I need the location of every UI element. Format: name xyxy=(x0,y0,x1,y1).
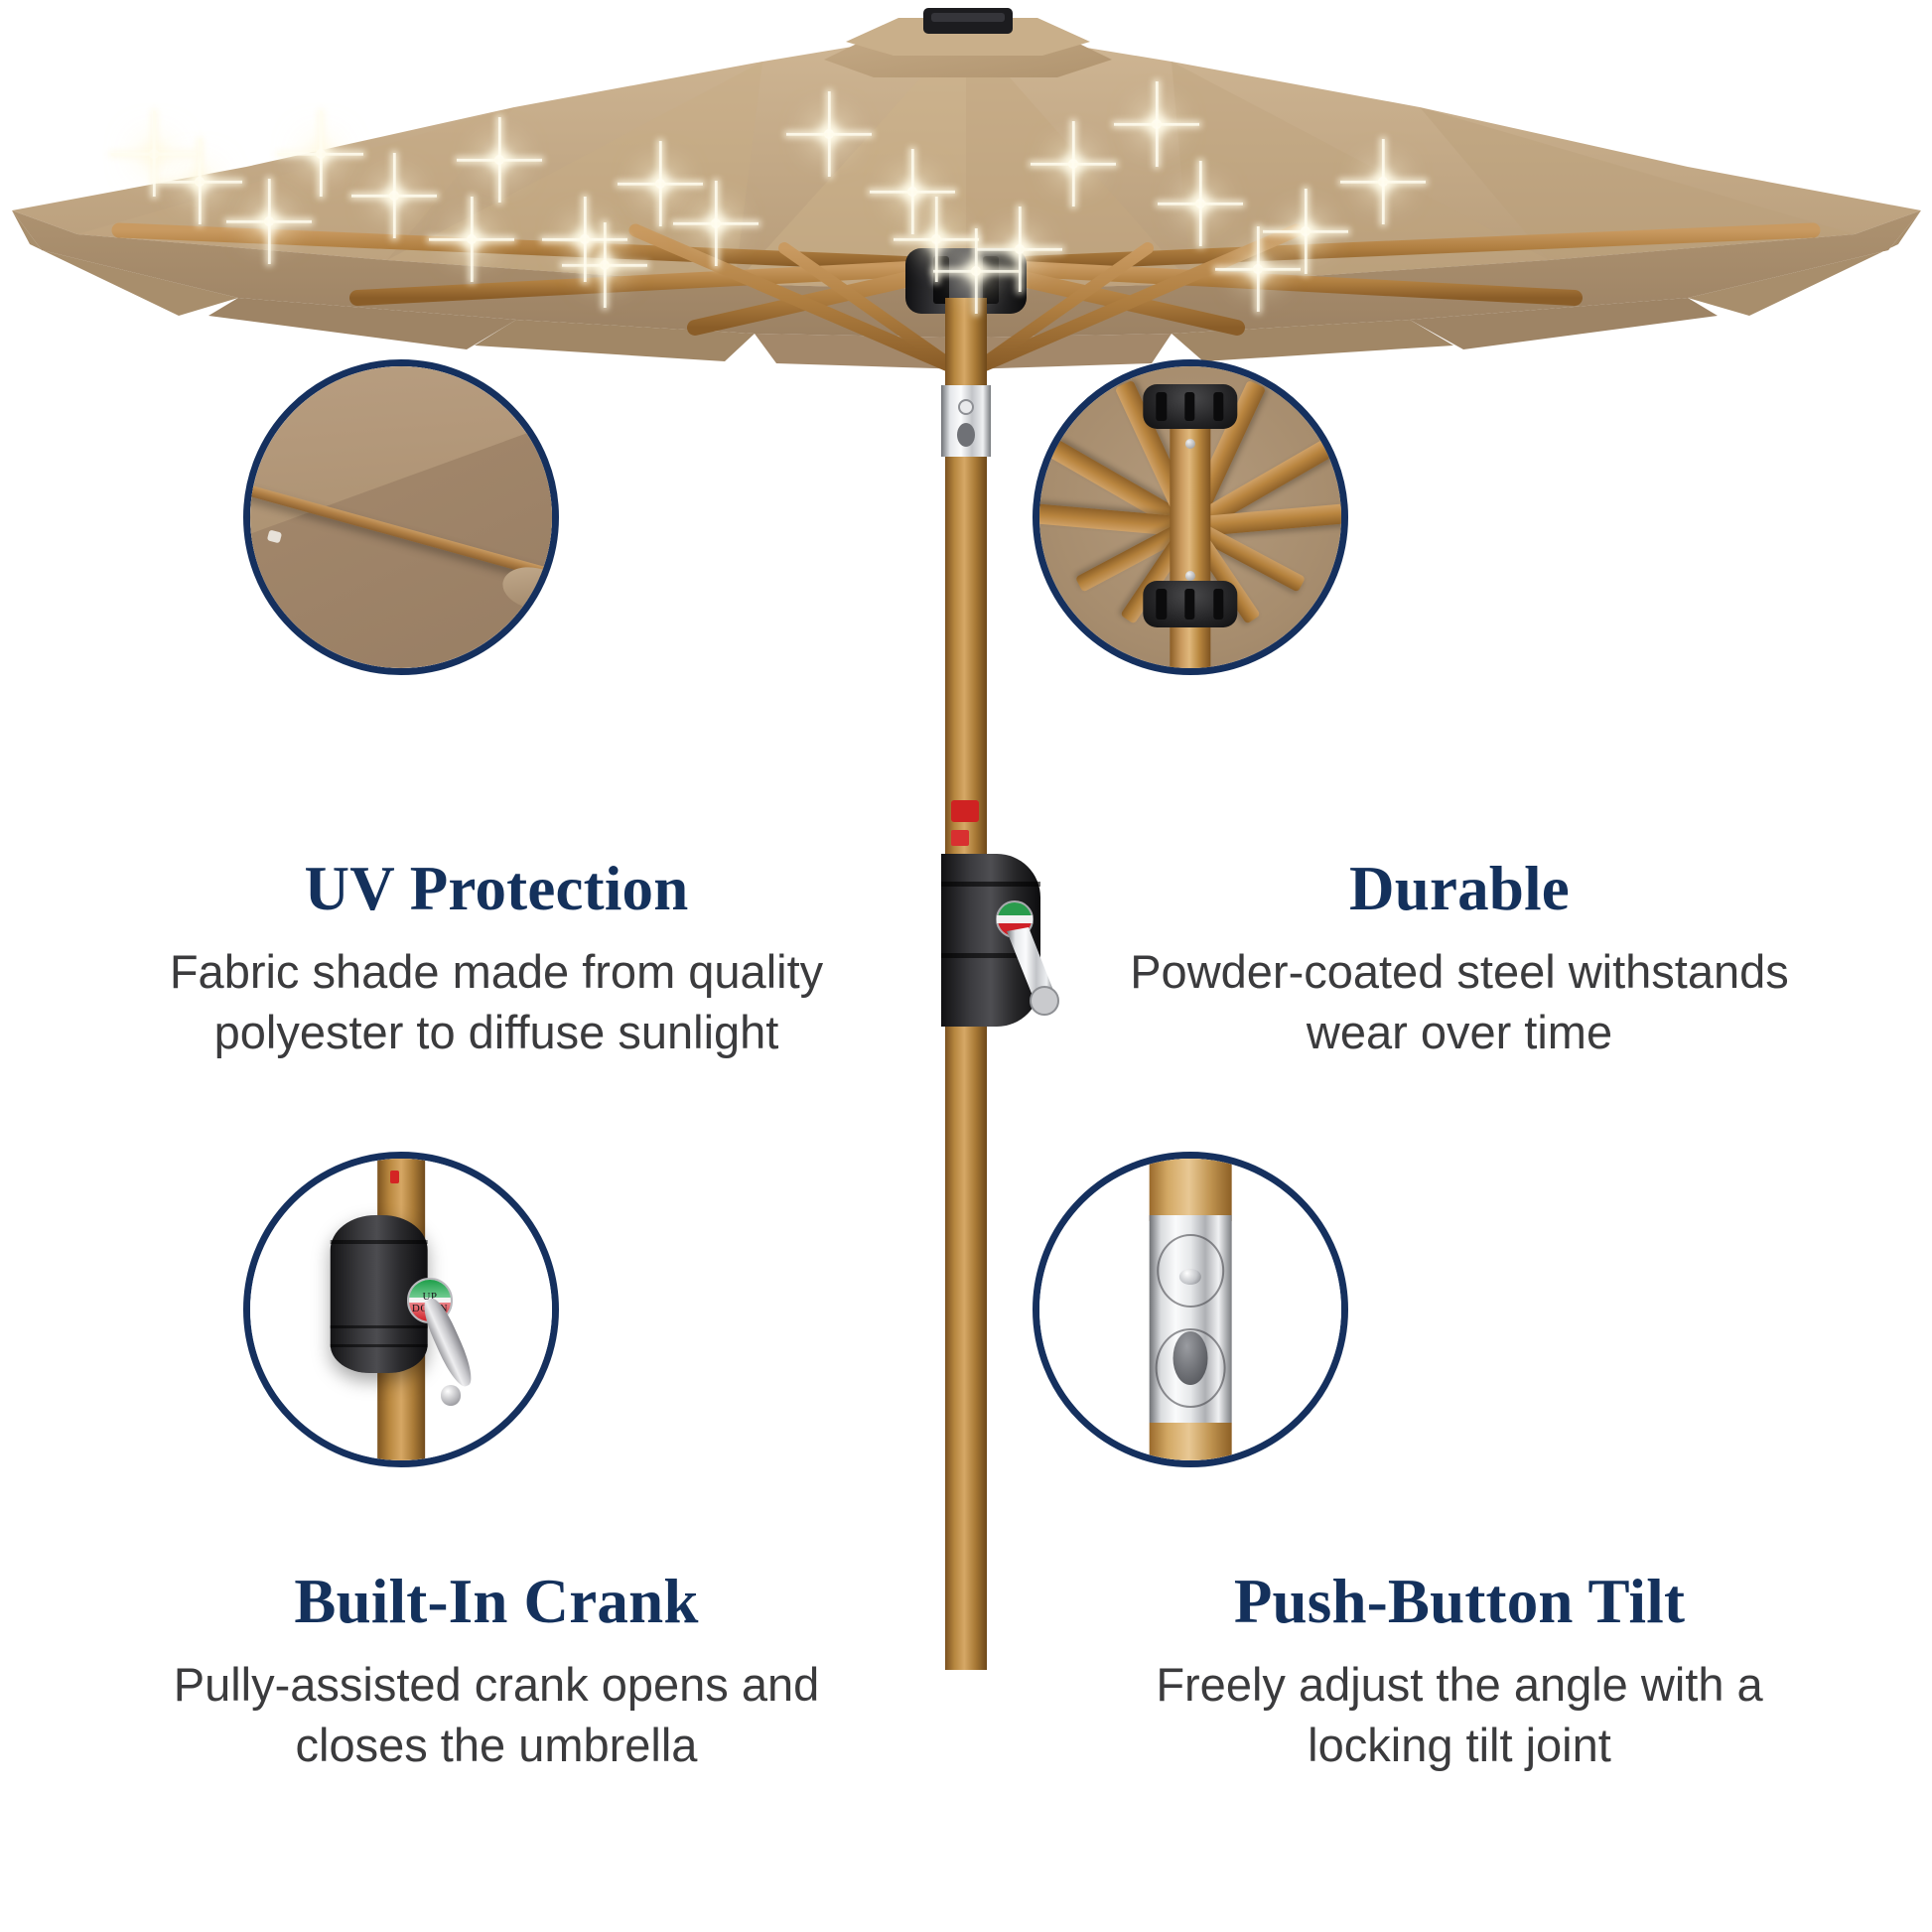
feature-description-push-button-tilt: Freely adjust the angle with a locking t… xyxy=(1003,1654,1916,1775)
desc-line: closes the umbrella xyxy=(296,1719,698,1771)
led-light xyxy=(655,179,665,189)
led-light xyxy=(1253,264,1263,274)
desc-line: locking tilt joint xyxy=(1308,1719,1611,1771)
feature-title-uv-protection: UV Protection xyxy=(40,856,953,921)
feature-title-durable: Durable xyxy=(1003,856,1916,921)
feature-description-uv-protection: Fabric shade made from quality polyester… xyxy=(40,941,953,1062)
desc-line: Freely adjust the angle with a xyxy=(1156,1658,1762,1711)
solar-panel xyxy=(923,8,1013,34)
led-light xyxy=(149,149,159,159)
led-light xyxy=(264,216,274,226)
led-light xyxy=(931,234,941,244)
led-light xyxy=(580,234,590,244)
feature-title-push-button-tilt: Push-Button Tilt xyxy=(1003,1569,1916,1634)
led-light xyxy=(494,155,504,165)
canopy-underside xyxy=(12,210,1921,338)
canopy-ribs xyxy=(119,230,1813,367)
canopy-top xyxy=(12,28,1921,290)
feature-description-built-in-crank: Pully-assisted crank opens and closes th… xyxy=(40,1654,953,1775)
callout-push-button-tilt xyxy=(1033,1152,1348,1467)
led-light xyxy=(1015,244,1025,254)
tilt-lever xyxy=(1173,1331,1208,1385)
led-light xyxy=(389,191,399,201)
led-light xyxy=(316,149,326,159)
led-light xyxy=(971,266,981,276)
callout-built-in-crank: UP DOWN xyxy=(243,1152,559,1467)
crank-handle-icon: UP DOWN xyxy=(243,1152,559,1467)
led-light xyxy=(467,234,477,244)
feature-durable: Durable Powder-coated steel withstands w… xyxy=(1003,856,1916,1062)
led-light xyxy=(1152,119,1162,129)
desc-line: Powder-coated steel withstands xyxy=(1130,945,1789,998)
led-light xyxy=(1301,226,1311,236)
feature-description-durable: Powder-coated steel withstands wear over… xyxy=(1003,941,1916,1062)
feature-title-built-in-crank: Built-In Crank xyxy=(40,1569,953,1634)
callout-durable xyxy=(1033,359,1348,675)
led-light xyxy=(1195,199,1205,208)
feature-push-button-tilt: Push-Button Tilt Freely adjust the angle… xyxy=(1003,1569,1916,1775)
led-light xyxy=(824,129,834,139)
fabric-canopy-closeup-icon xyxy=(243,359,559,675)
desc-line: wear over time xyxy=(1307,1006,1612,1058)
tilt-collar xyxy=(941,385,991,457)
led-light xyxy=(1378,177,1388,187)
rib-hub-underside-icon xyxy=(1033,359,1348,675)
desc-line: Pully-assisted crank opens and xyxy=(174,1658,820,1711)
feature-uv-protection: UV Protection Fabric shade made from qua… xyxy=(40,856,953,1062)
infographic-canvas: UP DOWN UV Protection Fabric xyxy=(0,0,1932,1932)
led-light xyxy=(907,187,917,197)
led-light xyxy=(195,177,205,187)
led-light xyxy=(711,218,721,228)
tilt-push-button xyxy=(1179,1269,1201,1285)
feature-built-in-crank: Built-In Crank Pully-assisted crank open… xyxy=(40,1569,953,1775)
led-light xyxy=(600,260,610,270)
callout-uv-protection xyxy=(243,359,559,675)
desc-line: polyester to diffuse sunlight xyxy=(214,1006,779,1058)
tilt-collar-icon xyxy=(1033,1152,1348,1467)
led-light xyxy=(1068,159,1078,169)
warning-sticker xyxy=(951,800,979,822)
desc-line: Fabric shade made from quality xyxy=(170,945,823,998)
canopy-hub xyxy=(905,248,1027,314)
